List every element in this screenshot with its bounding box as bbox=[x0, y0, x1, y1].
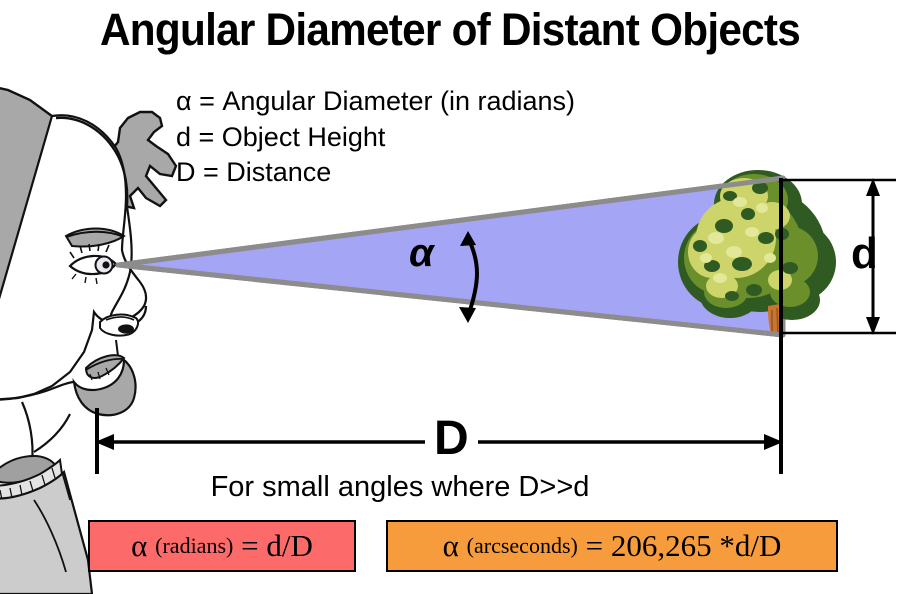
diagram-artwork bbox=[0, 0, 900, 594]
formula-equals-radians: = d/D bbox=[241, 528, 313, 564]
diagram-canvas: Angular Diameter of Distant Objects α = … bbox=[0, 0, 900, 594]
formula-unit-radians: (radians) bbox=[155, 533, 233, 559]
formula-unit-arcseconds: (arcseconds) bbox=[467, 533, 578, 559]
formula-space2-radians bbox=[233, 528, 241, 564]
formula-box-radians: α (radians) = d/D bbox=[88, 520, 356, 572]
formula-equals-arcseconds: = 206,265 *d/D bbox=[586, 528, 782, 564]
observer-head-icon bbox=[0, 86, 176, 594]
formula-space-arcseconds bbox=[459, 528, 467, 564]
height-label: d bbox=[851, 232, 878, 276]
formula-space-radians bbox=[147, 528, 155, 564]
formula-symbol-arcseconds: α bbox=[443, 528, 459, 564]
angle-label: α bbox=[409, 233, 434, 273]
formula-space2-arcseconds bbox=[578, 528, 586, 564]
formula-box-arcseconds: α (arcseconds) = 206,265 *d/D bbox=[386, 520, 838, 572]
distance-label: D bbox=[425, 415, 478, 463]
formula-symbol-radians: α bbox=[131, 528, 147, 564]
small-angle-note: For small angles where D>>d bbox=[0, 470, 850, 504]
